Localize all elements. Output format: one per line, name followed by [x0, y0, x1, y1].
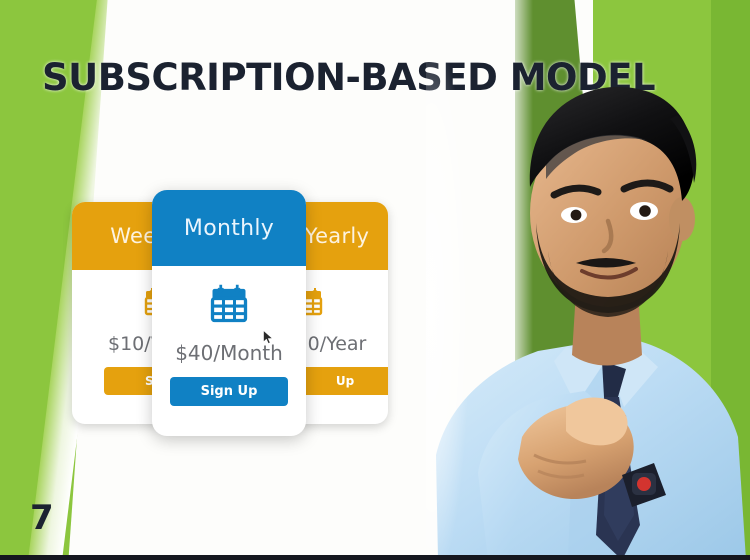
- pricing-card-monthly-plan: Monthly: [184, 216, 274, 241]
- slide-canvas: SUBSCRIPTION-BASED MODEL 7 Weekly: [0, 0, 750, 560]
- slide-bottom-border: [0, 555, 750, 560]
- pricing-card-monthly-signup-button[interactable]: Sign Up: [170, 377, 288, 406]
- presenter-figure: [426, 55, 750, 560]
- mouse-cursor-arrow-icon: [263, 330, 274, 345]
- pricing-card-monthly-body: $40/Month Sign Up: [152, 266, 306, 436]
- pricing-card-yearly-price: 0/Year: [308, 333, 367, 355]
- calendar-icon: [208, 282, 250, 331]
- pricing-card-monthly-header: Monthly: [152, 190, 306, 266]
- pricing-card-monthly[interactable]: Monthly $40/Month Sign Up: [152, 190, 306, 436]
- pricing-card-yearly-plan: Yearly: [305, 224, 370, 248]
